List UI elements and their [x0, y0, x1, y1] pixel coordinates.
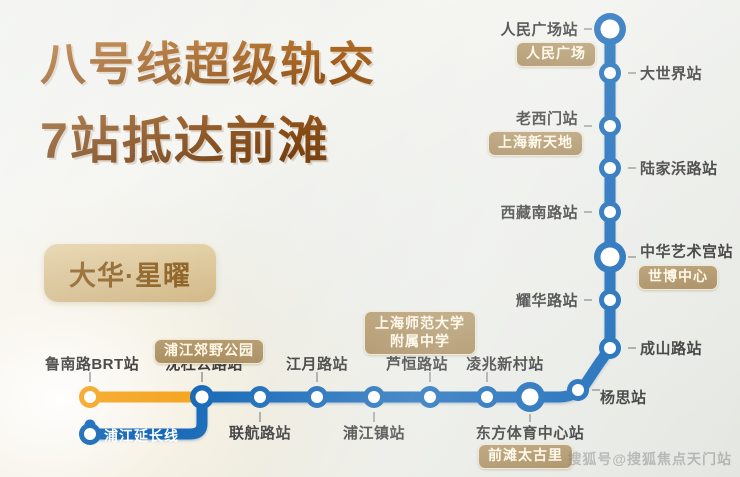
station-label-renmin-guangchang: 人民广场站 [500, 19, 578, 40]
station-label-yangsi: 杨思站 [600, 387, 647, 408]
poi-line-2: 附属中学 [375, 333, 465, 351]
station-dot-laoximen[interactable] [599, 115, 621, 137]
poi-badge-qiantan-taikooli: 前滩太古里 [478, 444, 573, 469]
station-dot-chengshan-lu[interactable] [599, 337, 621, 359]
station-dot-dashijie[interactable] [599, 62, 621, 84]
poi-badge-xintiandi: 上海新天地 [488, 131, 583, 156]
station-dot-lunan-lu-brt[interactable] [79, 386, 101, 408]
station-label-lianhang-lu: 联航路站 [229, 422, 291, 443]
station-dot-shendu-gonglu[interactable] [190, 385, 214, 409]
station-label-pujiang-zhen: 浦江镇站 [343, 422, 405, 443]
station-label-dongfang-tiyu-zhongxin: 东方体育中心站 [476, 422, 585, 443]
station-label-lujiabang-lu: 陆家浜路站 [640, 158, 718, 179]
station-label-dashijie: 大世界站 [640, 63, 702, 84]
poi-badge-renmin-guangchang: 人民广场 [516, 42, 596, 67]
station-label-xizang-nan-lu: 西藏南路站 [500, 202, 578, 223]
station-dot-yaohua-lu[interactable] [599, 289, 621, 311]
station-dot-zhonghua-yishugong[interactable] [594, 241, 626, 273]
station-label-jiangyue-lu: 江月路站 [286, 353, 348, 374]
station-dot-lujiabang-lu[interactable] [599, 157, 621, 179]
station-label-zhonghua-yishugong: 中华艺术宫站 [640, 241, 733, 262]
station-dot-xizang-nan-lu[interactable] [599, 201, 621, 223]
station-label-chengshan-lu: 成山路站 [640, 338, 702, 359]
station-label-lingzhao-xincun: 凌兆新村站 [466, 353, 544, 374]
branch-line-label: 浦江延长线 [104, 426, 179, 446]
station-label-lunan-lu-brt: 鲁南路BRT站 [45, 353, 139, 374]
station-label-laoximen: 老西门站 [516, 108, 578, 129]
station-dot-lianhang-lu[interactable] [249, 386, 271, 408]
metro-map-poster: 八号线超级轨交 7站抵达前滩 大华·星曜 [0, 0, 740, 477]
station-dot-dongfang-tiyu-zhongxin[interactable] [515, 382, 545, 412]
station-dot-pujiang-zhen[interactable] [363, 386, 385, 408]
station-dot-lingzhao-xincun[interactable] [476, 386, 498, 408]
watermark: 搜狐号@搜狐焦点天门站 [567, 449, 732, 469]
poi-badge-shishifan-fuzhong: 上海师范大学 附属中学 [364, 311, 476, 355]
station-label-luheng-lu: 芦恒路站 [386, 353, 448, 374]
poi-badge-pujiang-jiaoye-gongyuan: 浦江郊野公园 [154, 339, 264, 364]
station-label-yaohua-lu: 耀华路站 [516, 290, 578, 311]
station-dot-yangsi[interactable] [567, 379, 589, 401]
station-dot-renmin-guangchang[interactable] [594, 13, 626, 45]
station-dot-extension-terminus[interactable] [79, 423, 101, 445]
station-dots [79, 13, 626, 445]
poi-line-1: 上海师范大学 [375, 315, 465, 333]
station-dot-jiangyue-lu[interactable] [306, 386, 328, 408]
poi-badge-shibo-zhongxin: 世博中心 [638, 265, 718, 290]
station-dot-luheng-lu[interactable] [419, 386, 441, 408]
